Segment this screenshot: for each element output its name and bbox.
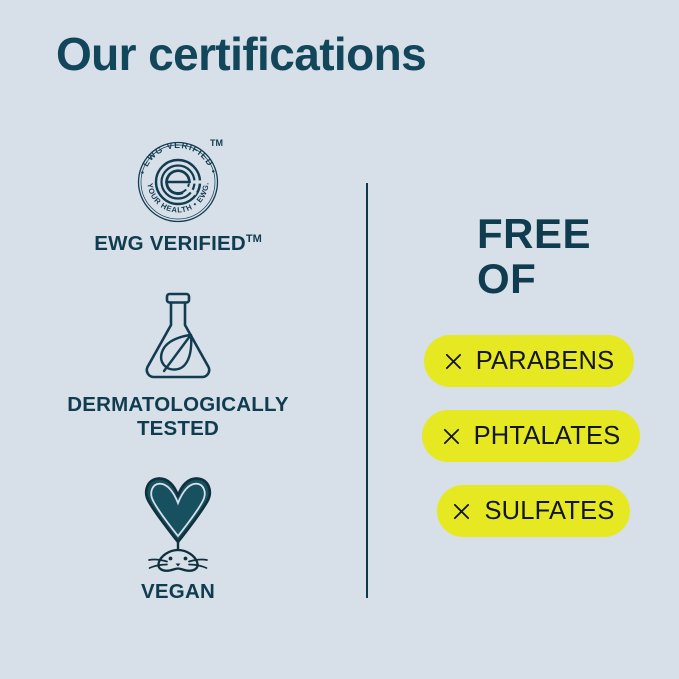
svg-text:TM: TM [210, 138, 223, 148]
free-of-section: FREE OF PARABENS PHTALATES SULFATE [366, 183, 679, 599]
bunny-heart-ears-icon [0, 470, 356, 574]
x-icon [444, 352, 463, 371]
free-of-pill-list: PARABENS PHTALATES SULFATES [366, 335, 679, 560]
certification-item-dermatologically-tested: DERMATOLOGICALLY TESTED [0, 283, 356, 440]
certifications-panel: Our certifications • EWG VERIFIED • [0, 0, 679, 679]
flask-with-leaf-icon [0, 283, 356, 387]
x-icon [442, 427, 461, 446]
certification-item-ewg: • EWG VERIFIED • FOR YOUR HEALTH • EWG.O… [0, 130, 356, 255]
free-of-pill-label: SULFATES [484, 497, 614, 526]
certification-label-line2: TESTED [0, 417, 356, 440]
free-of-pill-label: PHTALATES [474, 422, 621, 451]
certification-label-line1: DERMATOLOGICALLY [0, 393, 356, 416]
certification-label-vegan: VEGAN [0, 580, 356, 603]
free-of-pill-parabens[interactable]: PARABENS [424, 335, 634, 387]
free-of-pill-phtalates[interactable]: PHTALATES [422, 410, 640, 462]
certification-item-vegan: VEGAN [0, 470, 356, 603]
free-of-heading-line1: FREE [477, 210, 591, 257]
ewg-verified-seal-icon: • EWG VERIFIED • FOR YOUR HEALTH • EWG.O… [0, 130, 356, 226]
certification-label-ewg: EWG VERIFIEDTM [0, 232, 356, 255]
certification-list: • EWG VERIFIED • FOR YOUR HEALTH • EWG.O… [0, 130, 356, 611]
certification-label-text: EWG VERIFIED [94, 232, 246, 255]
x-icon [452, 502, 471, 521]
certification-label-dermatologically-tested: DERMATOLOGICALLY TESTED [0, 393, 356, 440]
free-of-pill-label: PARABENS [476, 347, 615, 376]
free-of-heading-line2: OF [477, 257, 591, 302]
free-of-pill-sulfates[interactable]: SULFATES [437, 485, 630, 537]
trademark-mark: TM [246, 233, 262, 245]
page-title: Our certifications [56, 29, 426, 80]
free-of-heading: FREE OF [477, 212, 591, 302]
